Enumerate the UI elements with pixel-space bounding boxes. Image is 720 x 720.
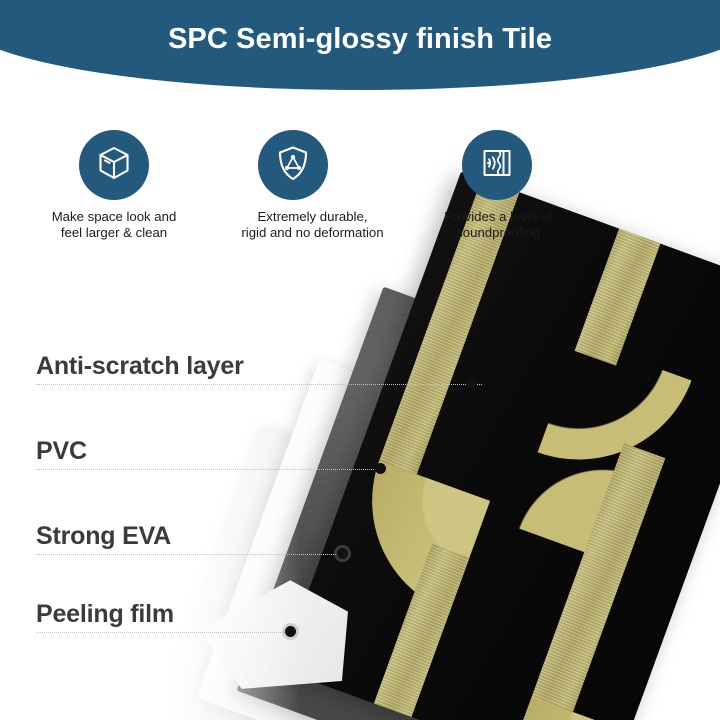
feature-icon-circle (79, 130, 149, 200)
feature-caption: Extremely durable, rigid and no deformat… (205, 209, 420, 241)
soundproofing-wall-icon (477, 143, 517, 188)
feature-caption: Provides a level of soundproofing (412, 209, 602, 241)
box-3d-icon (94, 143, 134, 188)
feature-icon-wrap (412, 130, 652, 200)
feature-icon-wrap (14, 130, 214, 200)
layer-label-strong-eva: Strong EVA (36, 522, 171, 551)
feature-caption: Make space look and feel larger & clean (14, 209, 214, 241)
feature-item-soundproofing: Provides a level of soundproofing (412, 130, 602, 241)
leader-dot-peeling-film (285, 626, 296, 637)
feature-item-space: Make space look and feel larger & clean (14, 130, 214, 241)
leader-line-pvc (36, 469, 388, 470)
leader-line-strong-eva (36, 554, 346, 555)
product-infographic: SPC Semi-glossy finish Tile (0, 0, 720, 720)
leader-dot-pvc (375, 463, 386, 474)
feature-icon-circle (258, 130, 328, 200)
feature-row: Make space look and feel larger & clean (0, 130, 720, 255)
feature-item-durability: Extremely durable, rigid and no deformat… (205, 130, 420, 241)
shield-molecule-icon (273, 143, 313, 188)
page-title: SPC Semi-glossy finish Tile (0, 0, 720, 78)
feature-icon-circle (462, 130, 532, 200)
leader-line-anti-scratch (36, 384, 482, 385)
leader-line-peeling-film (36, 632, 289, 633)
layer-label-pvc: PVC (36, 437, 87, 466)
layer-label-anti-scratch: Anti-scratch layer (36, 352, 244, 381)
leader-dot-strong-eva (337, 548, 348, 559)
layer-label-peeling-film: Peeling film (36, 600, 174, 629)
leader-dot-anti-scratch (466, 378, 477, 389)
